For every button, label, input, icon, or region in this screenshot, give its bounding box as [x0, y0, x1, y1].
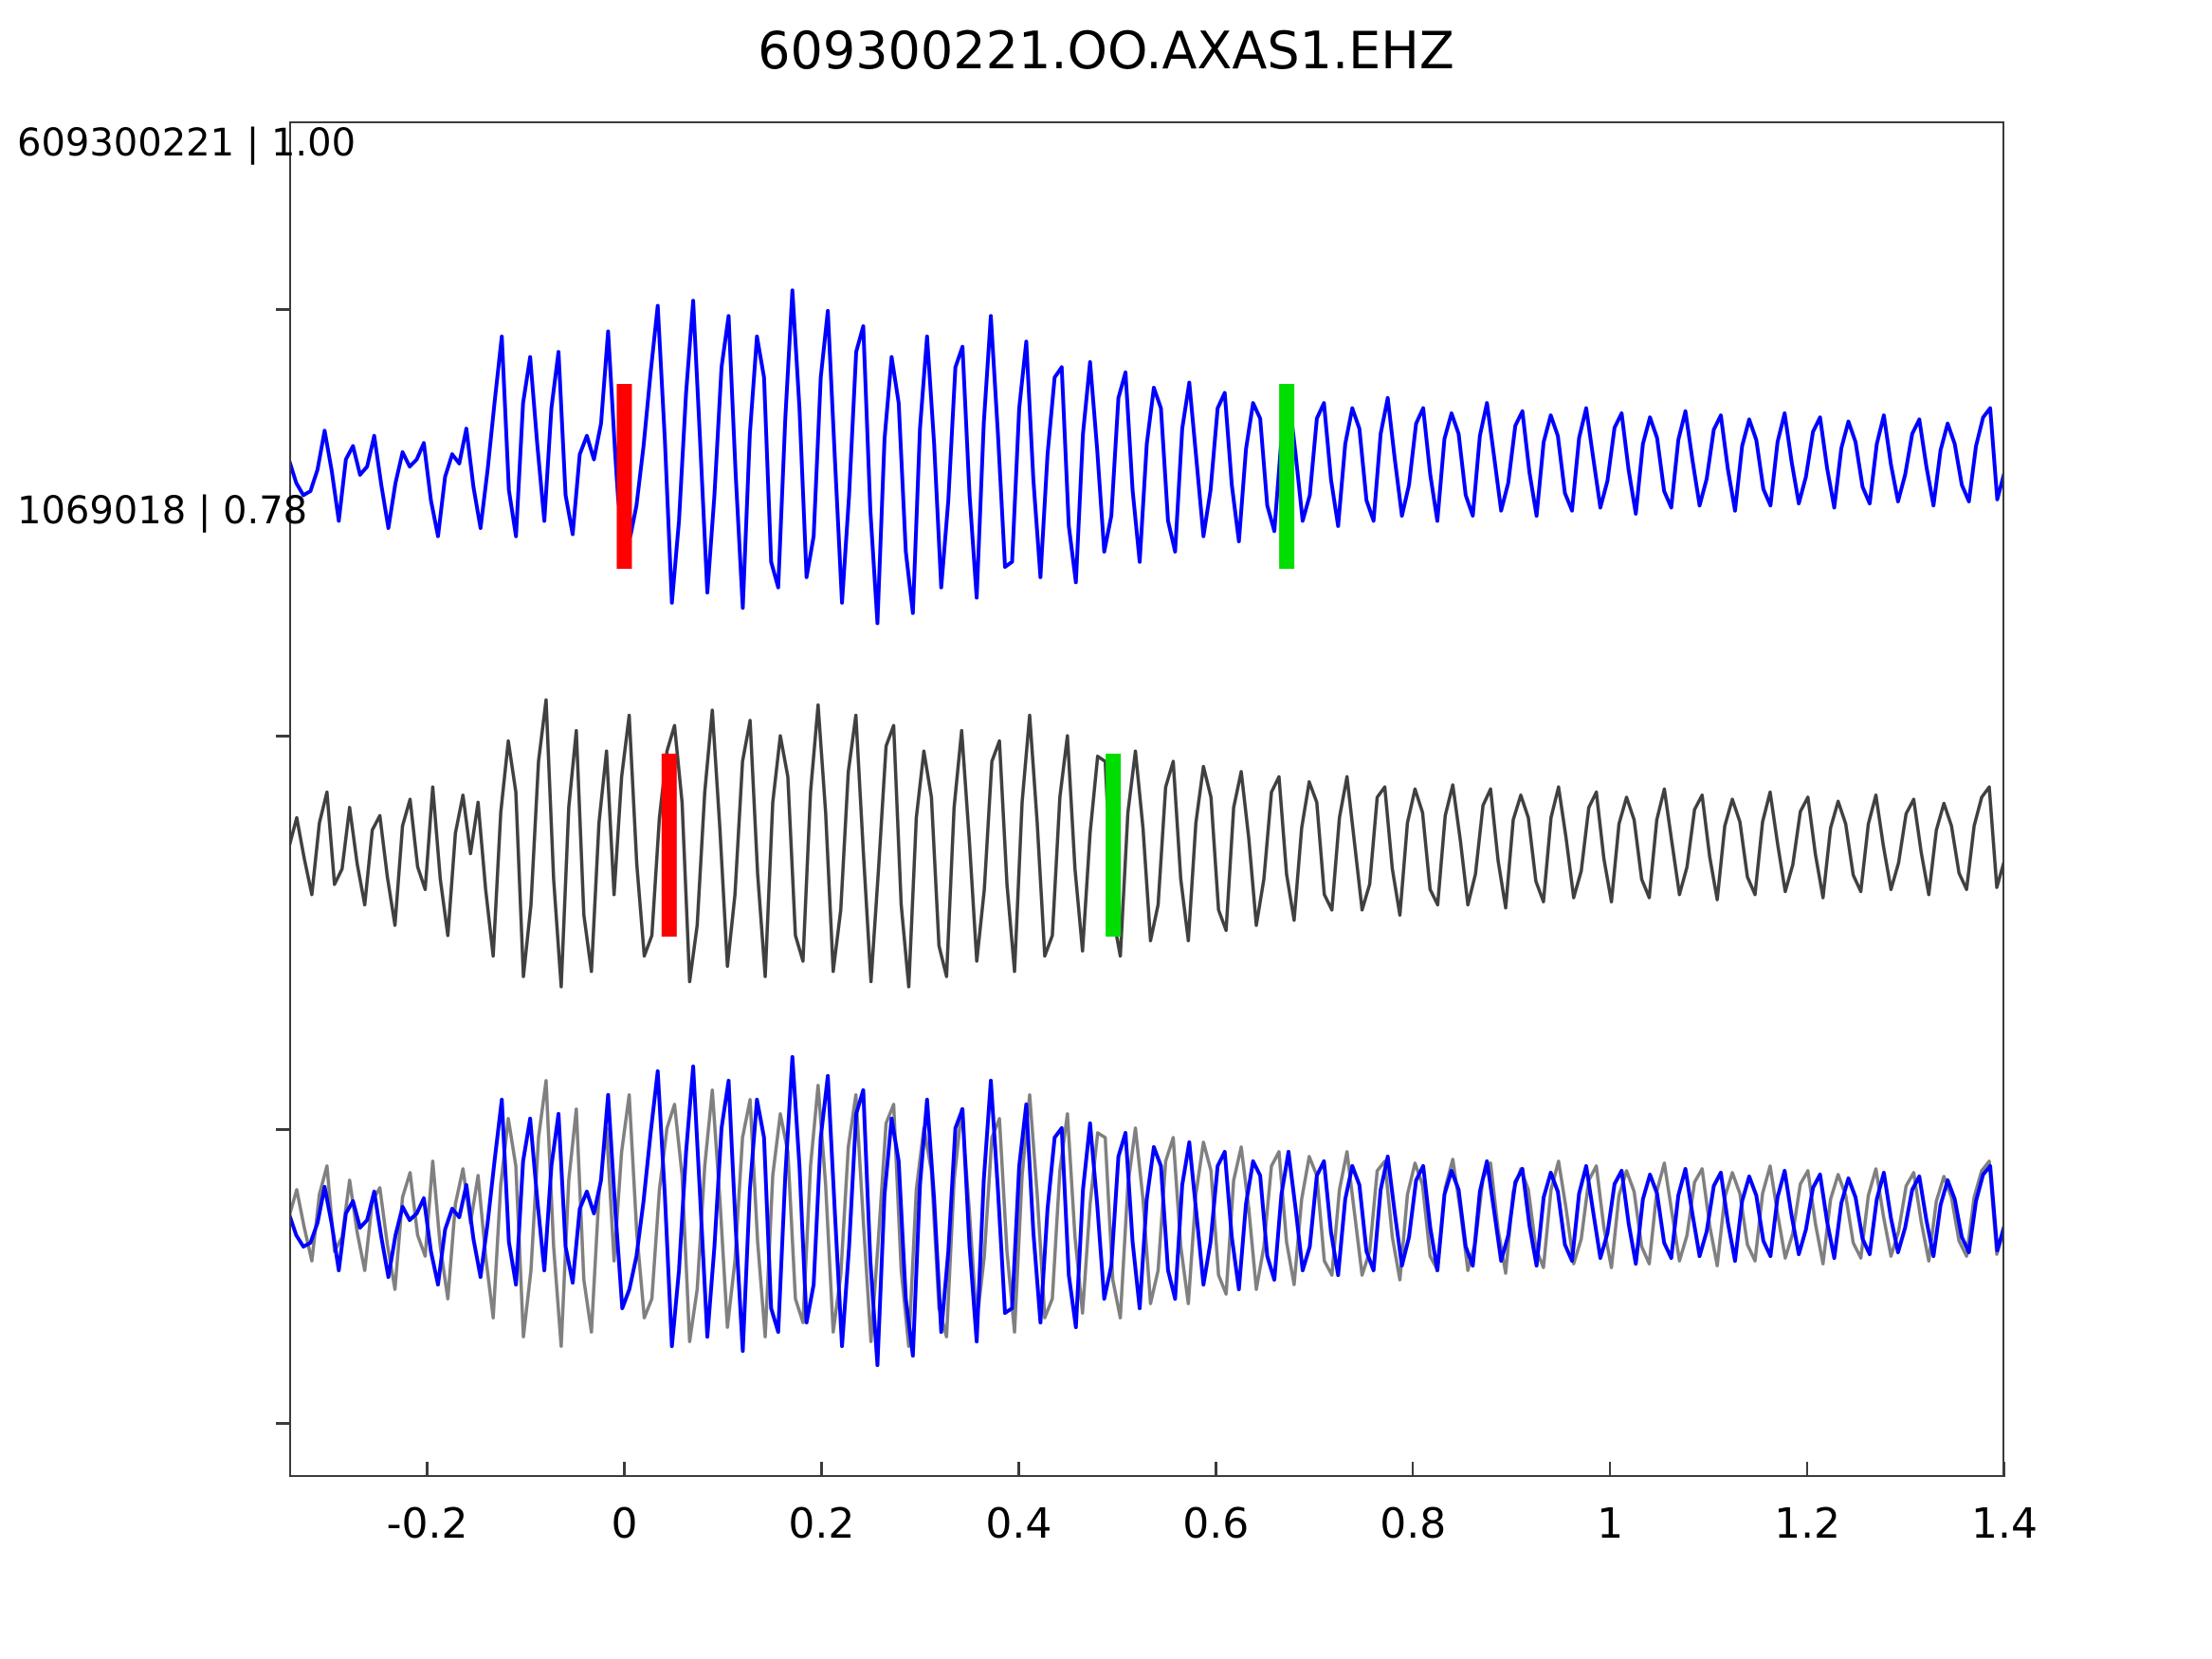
x-tick-label: 0.2 [788, 1500, 854, 1548]
x-tick-label: 1 [1597, 1500, 1623, 1548]
p-pick-marker [662, 754, 677, 937]
x-tick-label: -0.2 [387, 1500, 468, 1548]
x-tick-mark [1609, 1462, 1612, 1477]
x-tick-mark [820, 1462, 823, 1477]
x-tick-label: 1.2 [1774, 1500, 1840, 1548]
page-title: 609300221.OO.AXAS1.EHZ [0, 21, 2212, 81]
trace-primary-panel1 [289, 290, 2004, 623]
p-pick-marker [616, 384, 631, 569]
x-tick-mark [1806, 1462, 1809, 1477]
x-tick-label: 0.8 [1380, 1500, 1446, 1548]
s-pick-marker [1279, 384, 1294, 569]
seismic-waveform-figure: 609300221.OO.AXAS1.EHZ 609300221 | 1.00 … [0, 0, 2212, 1659]
x-tick-label: 0 [611, 1500, 637, 1548]
y-tick-mark [276, 1422, 291, 1425]
x-tick-mark [623, 1462, 626, 1477]
x-tick-mark [1017, 1462, 1020, 1477]
y-tick-mark [276, 308, 291, 311]
waveform-canvas [289, 121, 2004, 1477]
s-pick-marker [1106, 754, 1121, 937]
x-tick-mark [426, 1462, 429, 1477]
y-tick-mark [276, 1128, 291, 1131]
x-tick-label: 0.4 [985, 1500, 1051, 1548]
trace-label-secondary: 1069018 | 0.78 [17, 489, 307, 533]
x-tick-mark [1412, 1462, 1415, 1477]
x-tick-mark [2003, 1462, 2006, 1477]
plot-area [289, 121, 2004, 1477]
x-tick-mark [1215, 1462, 1217, 1477]
x-tick-label: 1.4 [1971, 1500, 2038, 1548]
trace-label-primary: 609300221 | 1.00 [17, 121, 356, 165]
y-tick-mark [276, 735, 291, 738]
x-tick-label: 0.6 [1182, 1500, 1249, 1548]
trace-secondary-panel2 [289, 700, 2004, 986]
